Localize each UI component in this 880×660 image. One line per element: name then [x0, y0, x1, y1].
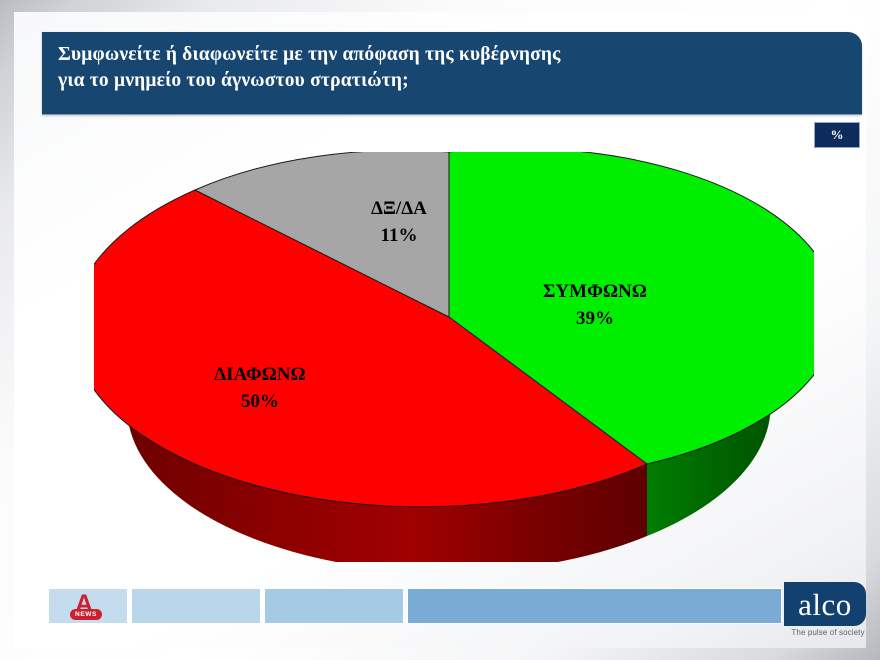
alco-tagline: The pulse of society: [780, 628, 876, 637]
pie-label-dk-na-name: ΔΞ/ΔΑ: [371, 198, 427, 219]
alpha-news-badge: NEWS: [70, 609, 102, 620]
footer-bar-2: [131, 588, 261, 624]
pie-label-disagree-value: 50%: [241, 391, 279, 412]
slide: Συμφωνείτε ή διαφωνείτε με την απόφαση τ…: [0, 0, 880, 660]
slide-canvas: Συμφωνείτε ή διαφωνείτε με την απόφαση τ…: [14, 12, 866, 648]
page-title: Συμφωνείτε ή διαφωνείτε με την απόφαση τ…: [58, 42, 850, 93]
pie-chart: ΣΥΜΦΩΝΩ 39% ΔΙΑΦΩΝΩ 50% ΔΞ/ΔΑ 11%: [94, 152, 814, 562]
footer-bar-3: [264, 588, 404, 624]
alco-wordmark: alco: [798, 589, 852, 620]
footer-bar-4: [407, 588, 782, 624]
alco-logo: alco: [784, 582, 866, 626]
pie-label-agree-value: 39%: [576, 308, 614, 329]
pie-label-agree-name: ΣΥΜΦΩΝΩ: [543, 281, 647, 302]
pie-label-disagree-name: ΔΙΑΦΩΝΩ: [214, 364, 306, 385]
title-bar: Συμφωνείτε ή διαφωνείτε με την απόφαση τ…: [42, 32, 862, 115]
percent-unit-badge: %: [814, 122, 860, 148]
pie-chart-svg: ΣΥΜΦΩΝΩ 39% ΔΙΑΦΩΝΩ 50% ΔΞ/ΔΑ 11%: [94, 152, 814, 562]
pie-label-dk-na-value: 11%: [381, 225, 418, 246]
alpha-news-logo: A NEWS: [66, 592, 108, 622]
footer: A NEWS alco The pulse of society: [14, 580, 880, 636]
